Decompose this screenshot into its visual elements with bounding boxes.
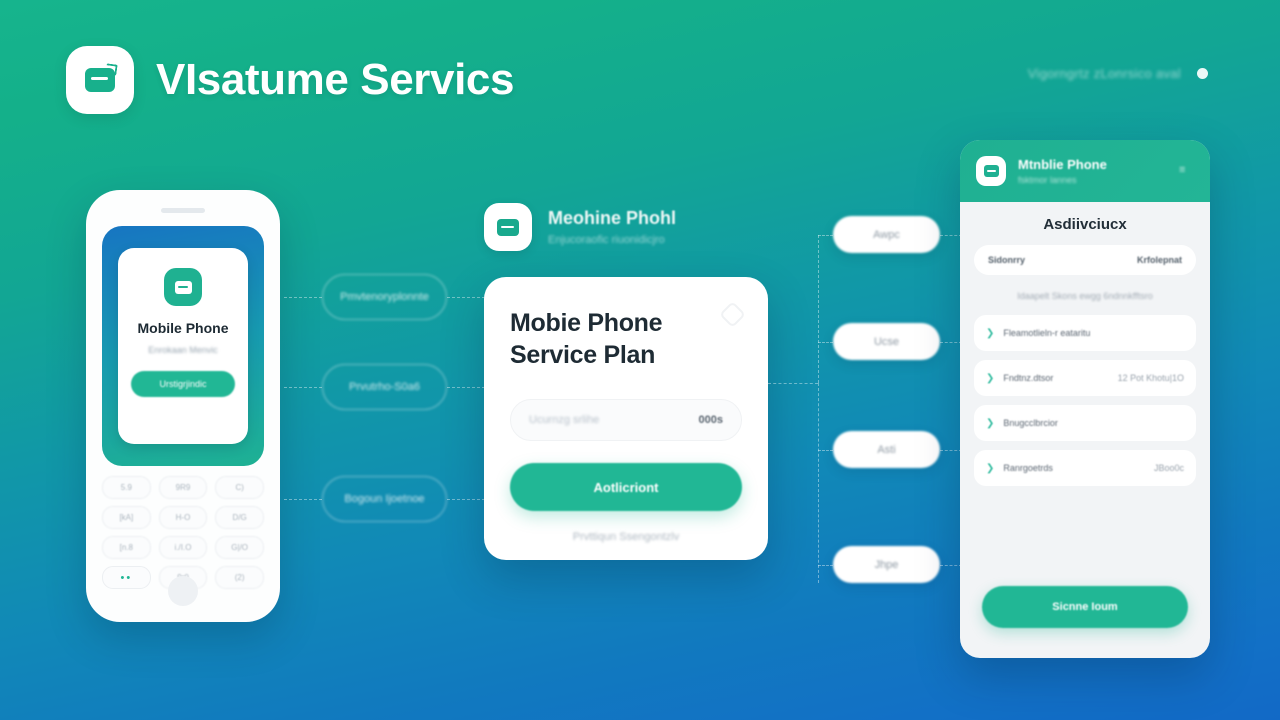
panel-header: Mtnblie Phone fsktmor lannes ≡ bbox=[960, 140, 1210, 202]
service-plan-card: Mobie Phone Service Plan Ucurnzg srlihe … bbox=[484, 277, 768, 560]
keypad-key[interactable]: G|/O bbox=[215, 536, 264, 559]
connector-line bbox=[818, 235, 833, 236]
mail-glyph-icon bbox=[175, 281, 192, 294]
menu-icon[interactable]: ≡ bbox=[1179, 164, 1194, 176]
branch-node-1[interactable]: Awpc bbox=[833, 216, 940, 253]
phone-keypad: 5.9 9R9 C) [kA] H-O D/G [n.8 i./I.O G|/O… bbox=[102, 476, 264, 589]
keypad-key[interactable]: •• bbox=[102, 566, 151, 589]
branch-node-4[interactable]: Jhpe bbox=[833, 546, 940, 583]
plan-input-value: 000s bbox=[699, 414, 723, 426]
keypad-key[interactable]: [n.8 bbox=[102, 536, 151, 559]
list-item-label: Fleamotlieln-r eataritu bbox=[1003, 328, 1175, 338]
keypad-key[interactable]: (2) bbox=[215, 566, 264, 589]
panel-description: Idaapelt Skons ewgg 6ndnnkfftsro bbox=[974, 291, 1196, 301]
chevron-icon: ❯ bbox=[986, 373, 994, 384]
phone-mockup: Mobile Phone Enrokaan Menvic Urstigrjind… bbox=[86, 190, 280, 622]
keypad-key[interactable]: H-O bbox=[159, 506, 208, 529]
panel-top-row[interactable]: Sidonrry Krfolepnat bbox=[974, 245, 1196, 275]
app-header: VIsatume Servics bbox=[66, 46, 514, 114]
list-item[interactable]: ❯ Fleamotlieln-r eataritu bbox=[974, 315, 1196, 351]
mail-glyph-icon bbox=[984, 165, 999, 177]
connector-line bbox=[818, 235, 819, 383]
list-item-value: 12 Pot Khotu|1O bbox=[1118, 373, 1184, 383]
keypad-key[interactable]: C) bbox=[215, 476, 264, 499]
flow-node-label: Prvutrho-S0a6 bbox=[349, 381, 420, 393]
header-status: Vigorngrtz zLonrsico aval bbox=[1028, 66, 1208, 81]
plan-input-field[interactable]: Ucurnzg srlihe 000s bbox=[510, 399, 742, 441]
branch-node-label: Jhpe bbox=[875, 559, 899, 571]
flow-node-label: Bogoun Ijoetnoe bbox=[344, 493, 424, 505]
panel-list: ❯ Fleamotlieln-r eataritu ❯ Fndtnz.dtsor… bbox=[974, 315, 1196, 486]
connector-line bbox=[940, 342, 962, 343]
service-plan-title: Mobie Phone Service Plan bbox=[510, 307, 742, 371]
mail-glyph-icon bbox=[497, 219, 519, 236]
connector-line bbox=[284, 499, 322, 500]
keypad-key[interactable]: 5.9 bbox=[102, 476, 151, 499]
connector-line bbox=[284, 297, 322, 298]
detail-panel: Mtnblie Phone fsktmor lannes ≡ Asdiivciu… bbox=[960, 140, 1210, 658]
chevron-icon: ❯ bbox=[986, 463, 994, 474]
flow-node-label: Pmvtenoryplonnte bbox=[340, 291, 429, 303]
phone-screen: Mobile Phone Enrokaan Menvic Urstigrjind… bbox=[102, 226, 264, 466]
center-card-header: Meohine Phohl Enjucoraofic riuonidicjro bbox=[484, 203, 676, 251]
flow-node-1[interactable]: Pmvtenoryplonnte bbox=[322, 274, 447, 320]
panel-body: Asdiivciucx Sidonrry Krfolepnat Idaapelt… bbox=[960, 202, 1210, 486]
keypad-key[interactable]: i./I.O bbox=[159, 536, 208, 559]
connector-line bbox=[818, 342, 833, 343]
list-item-value: JBoo0c bbox=[1154, 463, 1184, 473]
phone-inner-card[interactable]: Mobile Phone Enrokaan Menvic Urstigrjind… bbox=[118, 248, 248, 444]
branch-node-label: Asti bbox=[877, 444, 895, 456]
panel-title: Mtnblie Phone bbox=[1018, 157, 1107, 172]
branch-node-2[interactable]: Ucse bbox=[833, 323, 940, 360]
connector-line bbox=[447, 499, 485, 500]
chevron-icon: ❯ bbox=[986, 418, 994, 429]
panel-section-heading: Asdiivciucx bbox=[974, 216, 1196, 233]
list-item-label: Fndtnz.dtsor bbox=[1003, 373, 1108, 383]
plan-input-placeholder: Ucurnzg srlihe bbox=[529, 414, 599, 426]
connector-line bbox=[818, 383, 819, 583]
phone-home-button[interactable] bbox=[168, 576, 198, 606]
panel-cta-button[interactable]: Sicnne Ioum bbox=[982, 586, 1188, 628]
panel-top-row-left-label: Sidonrry bbox=[988, 255, 1025, 265]
connector-line bbox=[284, 387, 322, 388]
list-item[interactable]: ❯ Ranrgoetrds JBoo0c bbox=[974, 450, 1196, 486]
list-item-label: Bnugcclbrcior bbox=[1003, 418, 1175, 428]
mail-badge-icon bbox=[976, 156, 1006, 186]
connector-line bbox=[940, 235, 962, 236]
connector-line bbox=[818, 450, 833, 451]
activate-button[interactable]: Aotlicriont bbox=[510, 463, 742, 511]
phone-speaker bbox=[161, 208, 205, 213]
branch-node-label: Awpc bbox=[873, 229, 900, 241]
keypad-key[interactable]: D/G bbox=[215, 506, 264, 529]
center-header-title: Meohine Phohl bbox=[548, 208, 676, 229]
center-header-subtitle: Enjucoraofic riuonidicjro bbox=[548, 234, 676, 246]
flow-node-2[interactable]: Prvutrho-S0a6 bbox=[322, 364, 447, 410]
connector-line bbox=[940, 565, 962, 566]
phone-card-title: Mobile Phone bbox=[138, 320, 229, 336]
page-title: VIsatume Servics bbox=[156, 55, 514, 105]
branch-node-label: Ucse bbox=[874, 336, 899, 348]
keypad-key[interactable]: [kA] bbox=[102, 506, 151, 529]
phone-card-subtitle: Enrokaan Menvic bbox=[148, 345, 218, 355]
header-status-text: Vigorngrtz zLonrsico aval bbox=[1028, 66, 1181, 81]
app-canvas: VIsatume Servics Vigorngrtz zLonrsico av… bbox=[0, 0, 1280, 720]
chevron-icon: ❯ bbox=[986, 328, 994, 339]
panel-top-row-right-label: Krfolepnat bbox=[1137, 255, 1182, 265]
connector-line bbox=[447, 387, 485, 388]
list-item[interactable]: ❯ Fndtnz.dtsor 12 Pot Khotu|1O bbox=[974, 360, 1196, 396]
connector-line bbox=[768, 383, 818, 384]
panel-subtitle: fsktmor lannes bbox=[1018, 175, 1107, 185]
mail-badge-icon bbox=[66, 46, 134, 114]
list-item[interactable]: ❯ Bnugcclbrcior bbox=[974, 405, 1196, 441]
branch-node-3[interactable]: Asti bbox=[833, 431, 940, 468]
status-dot-icon bbox=[1197, 68, 1208, 79]
phone-card-button[interactable]: Urstigrjindic bbox=[131, 371, 235, 397]
keypad-key[interactable]: 9R9 bbox=[159, 476, 208, 499]
mail-badge-icon bbox=[164, 268, 202, 306]
connector-line bbox=[818, 565, 833, 566]
connector-line bbox=[447, 297, 485, 298]
card-footer-text: Prvttiqun Ssengontzlv bbox=[510, 531, 742, 543]
flow-node-3[interactable]: Bogoun Ijoetnoe bbox=[322, 476, 447, 522]
mail-glyph-icon bbox=[85, 68, 115, 92]
list-item-label: Ranrgoetrds bbox=[1003, 463, 1145, 473]
connector-line bbox=[940, 450, 962, 451]
mail-badge-icon bbox=[484, 203, 532, 251]
